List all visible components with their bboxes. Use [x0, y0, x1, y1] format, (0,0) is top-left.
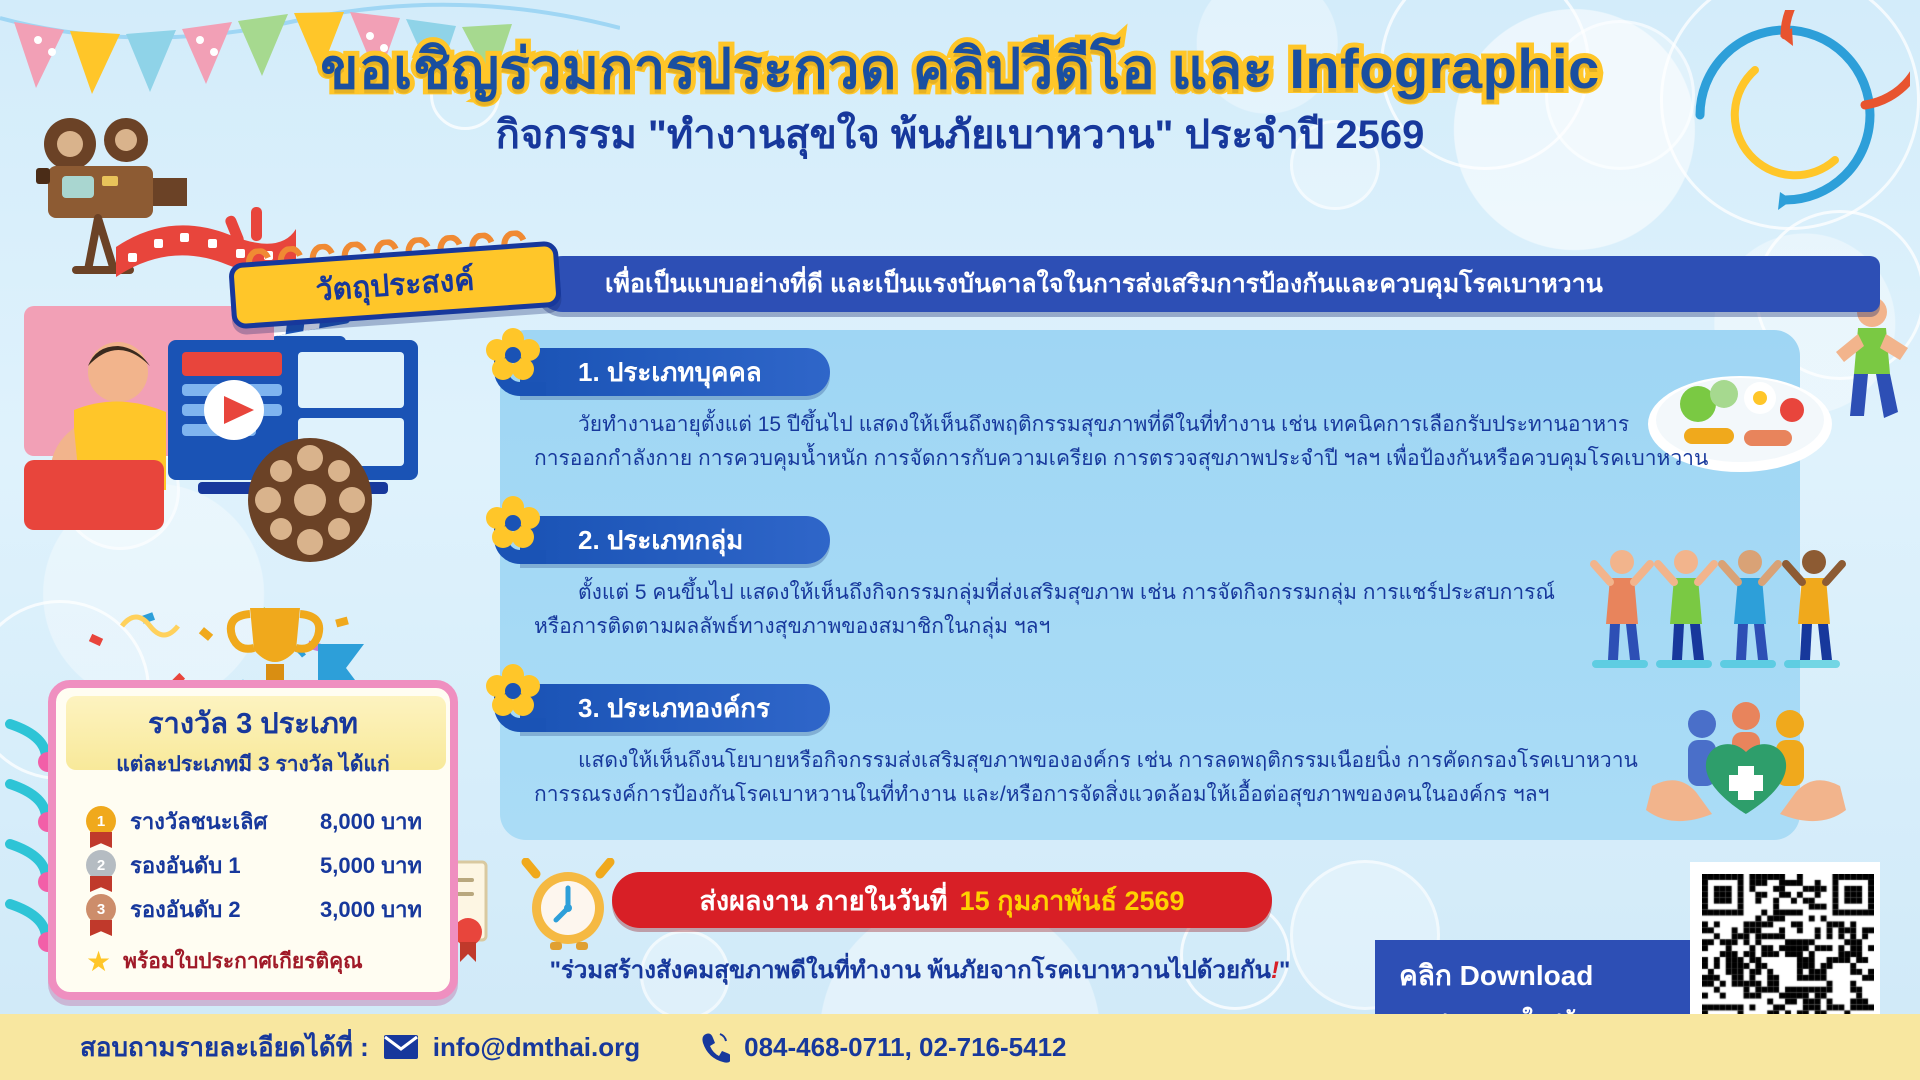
contact-phone[interactable]: 084-468-0711, 02-716-5412: [744, 1032, 1066, 1063]
poster-header: ขอเชิญร่วมการประกวด คลิปวีดีโอ และ Infog…: [0, 40, 1920, 157]
prize-subtitle: แต่ละประเภทมี 3 รางวัล ได้แก่: [56, 748, 450, 781]
section-1-body: วัยทำงานอายุตั้งแต่ 15 ปีขึ้นไป แสดงให้เ…: [520, 408, 1780, 475]
page-title: ขอเชิญร่วมการประกวด คลิปวีดีโอ และ Infog…: [0, 40, 1920, 99]
page-subtitle: กิจกรรม "ทำงานสุขใจ พ้นภัยเบาหวาน" ประจำ…: [0, 113, 1920, 157]
section-2-header: 2. ประเภทกลุ่ม: [520, 516, 830, 564]
footer-bar: สอบถามรายละเอียดได้ที่ : info@dmthai.org…: [0, 1014, 1920, 1080]
section-2: 2. ประเภทกลุ่ม ตั้งแต่ 5 คนขึ้นไป แสดงให…: [520, 516, 1800, 643]
prize-row: 2 รองอันดับ 1 5,000 บาท: [86, 843, 450, 887]
objective-banner: เพื่อเป็นแบบอย่างที่ดี และเป็นแรงบันดาลใ…: [0, 252, 1920, 320]
section-1: 1. ประเภทบุคคล วัยทำงานอายุตั้งแต่ 15 ปี…: [520, 348, 1800, 475]
section-1-header: 1. ประเภทบุคคล: [520, 348, 830, 396]
slogan-main: "ร่วมสร้างสังคมสุขภาพดีในที่ทำงาน พ้นภัย…: [550, 957, 1271, 984]
envelope-icon: [383, 1034, 419, 1060]
flower-icon: [486, 496, 540, 550]
section-2-line1: ตั้งแต่ 5 คนขึ้นไป แสดงให้เห็นถึงกิจกรรม…: [578, 581, 1555, 604]
slogan-close-quote: ": [1279, 957, 1290, 984]
prize-list: 1 รางวัลชนะเลิศ 8,000 บาท 2 รองอันดับ 1 …: [56, 799, 450, 931]
deadline-date: 15 กุมภาพันธ์ 2569: [960, 879, 1185, 922]
objective-text: เพื่อเป็นแบบอย่างที่ดี และเป็นแรงบันดาลใ…: [605, 264, 1603, 304]
flower-icon: [486, 664, 540, 718]
medal-rank: 1: [97, 813, 105, 830]
section-2-heading: 2. ประเภทกลุ่ม: [578, 520, 743, 561]
prize-label: รองอันดับ 2: [130, 892, 320, 927]
medal-silver-icon: 2: [86, 850, 116, 880]
section-3-line1: แสดงให้เห็นถึงนโยบายหรือกิจกรรมส่งเสริมส…: [578, 749, 1638, 772]
section-1-line2: การออกกำลังกาย การควบคุมน้ำหนัก การจัดกา…: [534, 447, 1708, 470]
objective-tag-label: วัตถุประสงค์: [314, 256, 476, 314]
section-1-heading: 1. ประเภทบุคคล: [578, 352, 762, 393]
slogan-text: "ร่วมสร้างสังคมสุขภาพดีในที่ทำงาน พ้นภัย…: [470, 950, 1370, 989]
contact-label: สอบถามรายละเอียดได้ที่ :: [80, 1027, 369, 1068]
medal-gold-icon: 1: [86, 806, 116, 836]
prize-box: รางวัล 3 ประเภท แต่ละประเภทมี 3 รางวัล ไ…: [48, 680, 458, 1000]
medal-rank: 2: [97, 857, 105, 874]
medal-bronze-icon: 3: [86, 894, 116, 924]
section-2-body: ตั้งแต่ 5 คนขึ้นไป แสดงให้เห็นถึงกิจกรรม…: [520, 576, 1780, 643]
prize-amount: 8,000 บาท: [320, 804, 422, 839]
prize-row: 3 รองอันดับ 2 3,000 บาท: [86, 887, 450, 931]
prize-note: พร้อมใบประกาศเกียรติคุณ: [123, 945, 363, 978]
section-3: 3. ประเภทองค์กร แสดงให้เห็นถึงนโยบายหรือ…: [520, 684, 1800, 811]
phone-icon: [698, 1031, 730, 1063]
prize-amount: 3,000 บาท: [320, 892, 422, 927]
phone-item: 084-468-0711, 02-716-5412: [698, 1031, 1066, 1063]
prize-note-row: ★ พร้อมใบประกาศเกียรติคุณ: [56, 945, 450, 978]
section-3-heading: 3. ประเภทองค์กร: [578, 688, 770, 729]
film-reel-icon: [240, 430, 380, 570]
contact-email[interactable]: info@dmthai.org: [433, 1032, 640, 1063]
section-3-header: 3. ประเภทองค์กร: [520, 684, 830, 732]
slogan-exclamation: !: [1271, 957, 1279, 984]
medal-rank: 3: [97, 901, 105, 918]
section-1-line1: วัยทำงานอายุตั้งแต่ 15 ปีขึ้นไป แสดงให้เ…: [578, 413, 1629, 436]
deadline-banner: ส่งผลงาน ภายในวันที่ 15 กุมภาพันธ์ 2569: [612, 872, 1272, 928]
section-3-line2: การรณรงค์การป้องกันโรคเบาหวานในที่ทำงาน …: [534, 783, 1549, 806]
contact-label-item: สอบถามรายละเอียดได้ที่ : info@dmthai.org: [80, 1027, 640, 1068]
prize-title: รางวัล 3 ประเภท: [56, 688, 450, 746]
prize-label: รางวัลชนะเลิศ: [130, 804, 320, 839]
deadline-label: ส่งผลงาน ภายในวันที่: [699, 879, 947, 922]
prize-amount: 5,000 บาท: [320, 848, 422, 883]
prize-label: รองอันดับ 1: [130, 848, 320, 883]
alarm-clock-icon: [520, 858, 616, 950]
flower-icon: [486, 328, 540, 382]
section-3-body: แสดงให้เห็นถึงนโยบายหรือกิจกรรมส่งเสริมส…: [520, 744, 1780, 811]
section-2-line2: หรือการติดตามผลลัพธ์ทางสุขภาพของสมาชิกใน…: [534, 615, 1050, 638]
download-title: คลิก Download: [1399, 954, 1695, 998]
prize-row: 1 รางวัลชนะเลิศ 8,000 บาท: [86, 799, 450, 843]
objective-bar: เพื่อเป็นแบบอย่างที่ดี และเป็นแรงบันดาลใ…: [535, 256, 1880, 312]
star-icon: ★: [86, 945, 111, 978]
